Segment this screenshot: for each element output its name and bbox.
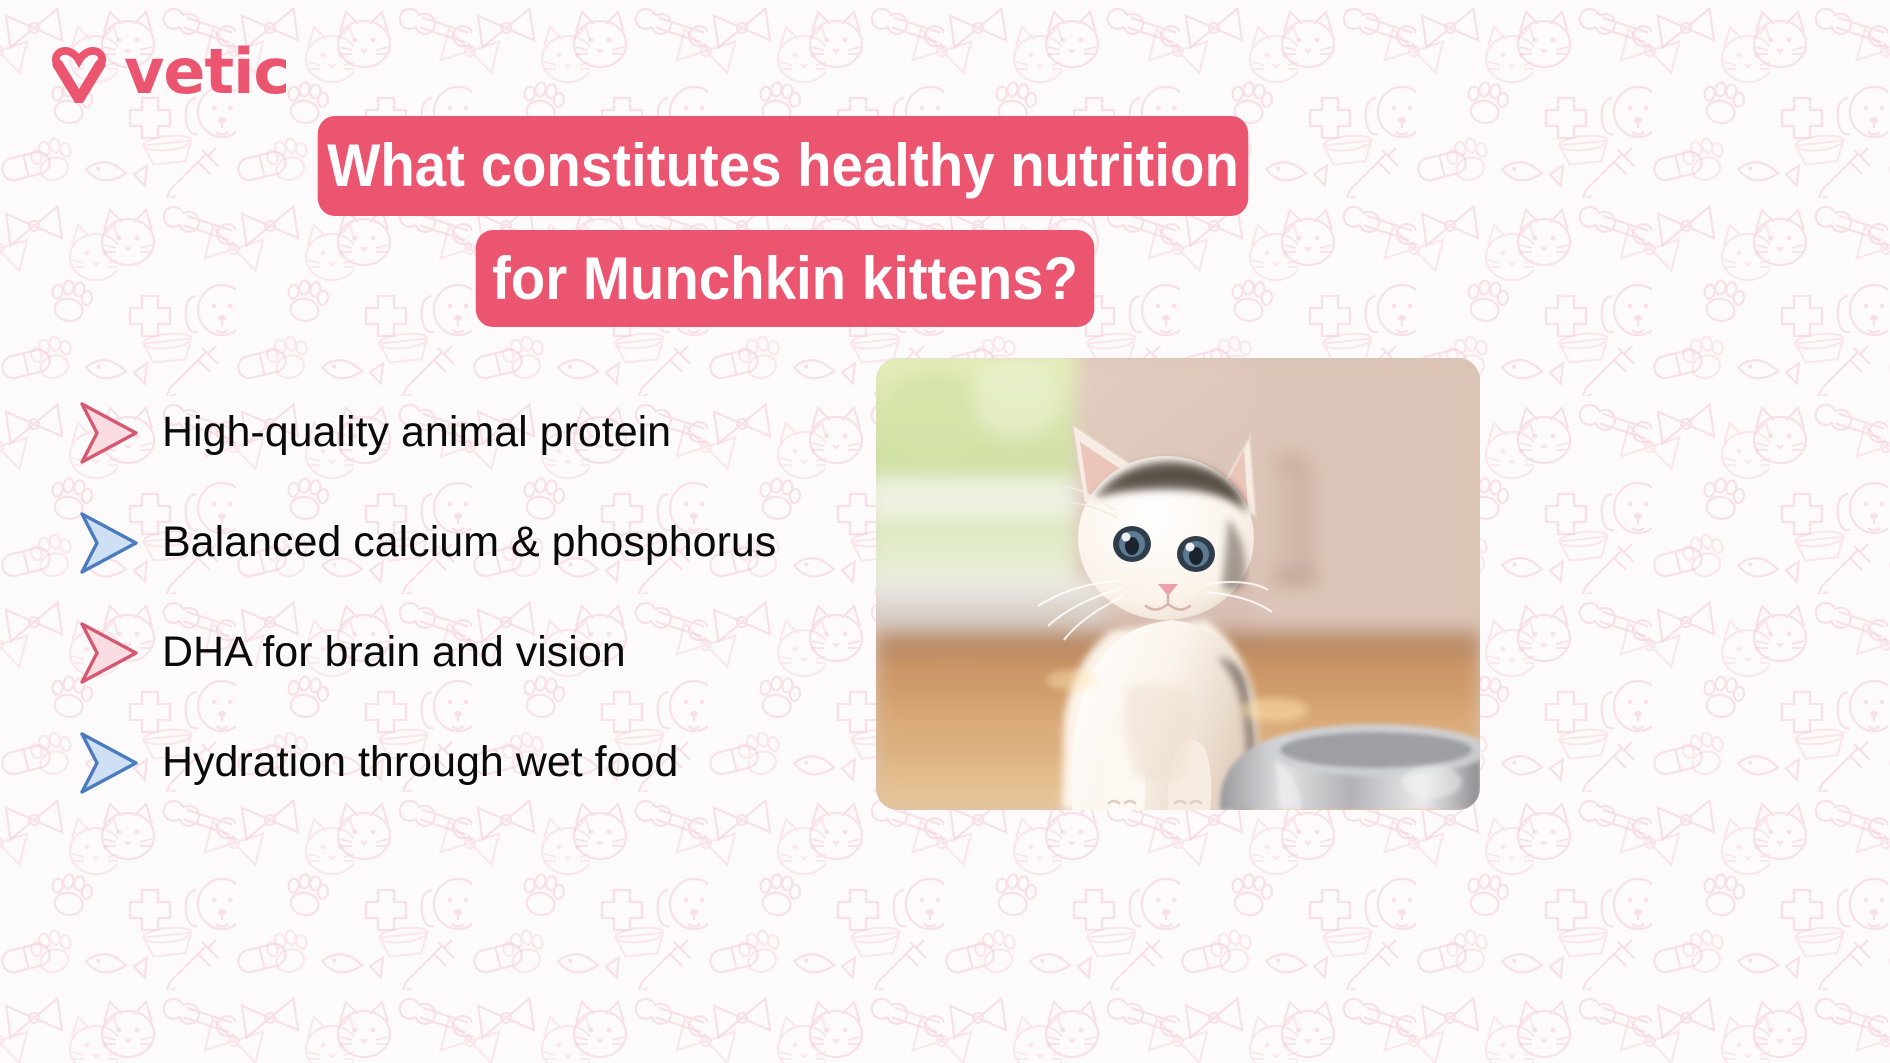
list-item: DHA for brain and vision [72,598,862,708]
nutrition-bullet-list: High-quality animal protein Balanced cal… [72,378,862,818]
title-line-1-text: What constitutes healthy nutrition [327,136,1239,196]
list-item-label: DHA for brain and vision [162,629,626,676]
poster-canvas: vetic What constitutes healthy nutrition… [0,0,1890,1063]
title-banner-line-2: for Munchkin kittens? [476,230,1095,327]
list-item-label: Hydration through wet food [162,739,678,786]
list-item: Balanced calcium & phosphorus [72,488,862,598]
title-line-2-text: for Munchkin kittens? [492,249,1078,309]
title-banner-line-1: What constitutes healthy nutrition [318,116,1249,216]
heart-v-icon [48,41,110,103]
kitten-photo-illustration [876,358,1480,810]
brand-logo[interactable]: vetic [48,36,289,108]
list-item: High-quality animal protein [72,378,862,488]
arrow-right-icon [72,726,146,800]
list-item-label: Balanced calcium & phosphorus [162,519,776,566]
list-item-label: High-quality animal protein [162,409,671,456]
kitten-photo [876,358,1480,810]
brand-wordmark: vetic [124,41,289,103]
arrow-right-icon [72,396,146,470]
arrow-right-icon [72,506,146,580]
list-item: Hydration through wet food [72,708,862,818]
arrow-right-icon [72,616,146,690]
